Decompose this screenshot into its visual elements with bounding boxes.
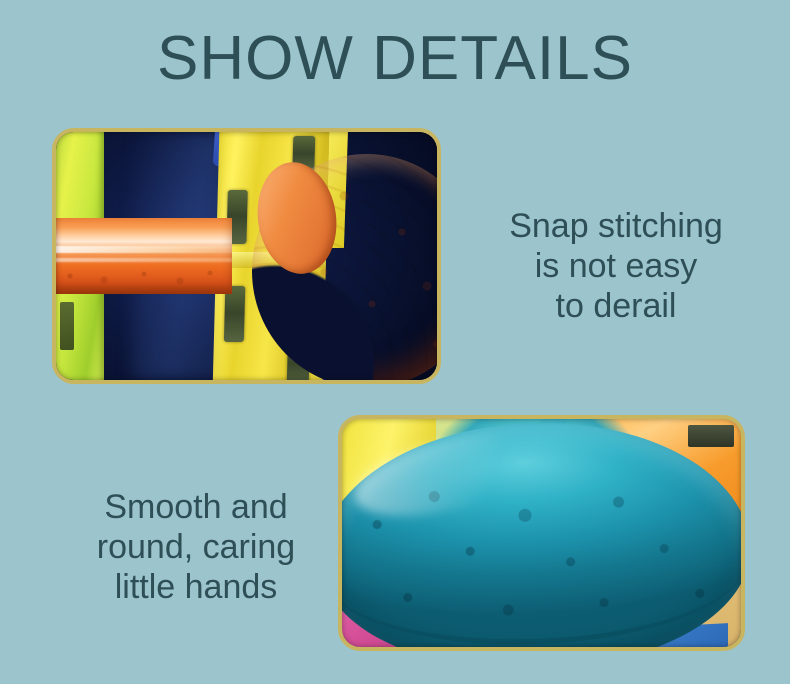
photo-scene-teal-track bbox=[342, 419, 741, 647]
caption-line: Smooth and bbox=[50, 487, 342, 527]
caption-line: Snap stitching bbox=[470, 206, 762, 246]
caption-smooth-round: Smooth and round, caring little hands bbox=[50, 487, 342, 607]
feature-photo-snap-stitching bbox=[52, 128, 441, 384]
show-details-page: SHOW DETAILS bbox=[0, 0, 790, 684]
tube-highlight-secondary bbox=[56, 258, 232, 262]
orange-straight-tube bbox=[56, 218, 232, 294]
page-title: SHOW DETAILS bbox=[0, 28, 790, 90]
feature-photo-smooth-round bbox=[338, 415, 745, 651]
caption-line: little hands bbox=[50, 567, 342, 607]
tube-highlight bbox=[56, 246, 232, 253]
caption-line: to derail bbox=[470, 286, 762, 326]
caption-snap-stitching: Snap stitching is not easy to derail bbox=[470, 206, 762, 326]
caption-line: round, caring bbox=[50, 527, 342, 567]
magnet-strip bbox=[224, 286, 245, 342]
photo-scene-orange-track bbox=[56, 132, 437, 380]
caption-line: is not easy bbox=[470, 246, 762, 286]
tube-swirl-texture bbox=[56, 264, 232, 290]
